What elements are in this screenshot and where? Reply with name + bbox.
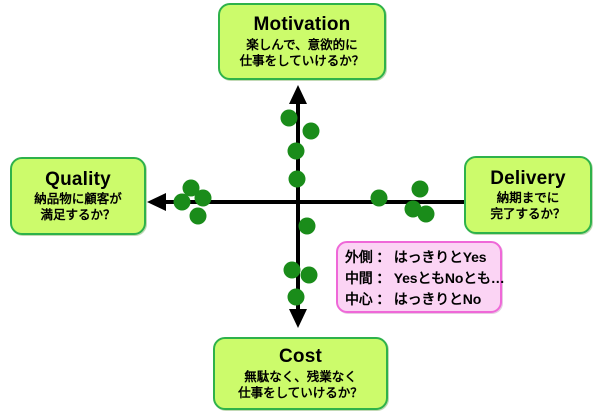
box-title-quality: Quality <box>45 169 111 190</box>
data-point <box>284 262 301 279</box>
box-title-cost: Cost <box>279 346 322 367</box>
box-subtitle-quality-line2: 満足するか？ <box>40 207 115 223</box>
box-subtitle-delivery-line1: 納期までに <box>497 190 560 206</box>
data-point <box>371 190 388 207</box>
box-subtitle-delivery-line2: 完了するか？ <box>490 206 565 222</box>
legend-box: 外側 ： はっきりとYes 中間 ： YesともNoとも… 中心 ： はっきりと… <box>336 241 502 313</box>
data-point <box>288 289 305 306</box>
legend-row-outer: 外側 ： はっきりとYes <box>345 247 498 268</box>
data-point <box>412 181 429 198</box>
box-subtitle-cost-line1: 無駄なく、残業なく <box>244 369 357 385</box>
axis-label-box-delivery: Delivery 納期までに 完了するか？ <box>464 156 592 234</box>
data-point <box>289 171 306 188</box>
box-subtitle-motivation-line1: 楽しんで、意欲的に <box>246 37 357 53</box>
legend-row-center: 中心 ： はっきりとNo <box>345 289 498 310</box>
data-point <box>299 218 316 235</box>
data-point <box>174 194 191 211</box>
legend-row-middle: 中間 ： YesともNoとも… <box>345 268 498 289</box>
data-point <box>303 123 320 140</box>
data-point <box>281 110 298 127</box>
axis-label-box-motivation: Motivation 楽しんで、意欲的に 仕事をしていけるか？ <box>218 3 386 80</box>
x-axis-left-arrow <box>147 193 166 211</box>
box-subtitle-quality-line1: 納品物に顧客が <box>34 191 122 207</box>
y-axis-up-arrow <box>289 85 307 104</box>
data-point <box>288 143 305 160</box>
axis-label-box-quality: Quality 納品物に顧客が 満足するか？ <box>10 157 146 235</box>
box-title-delivery: Delivery <box>490 168 566 189</box>
y-axis-down-arrow <box>289 309 307 328</box>
axis-label-box-cost: Cost 無駄なく、残業なく 仕事をしていけるか？ <box>213 337 388 410</box>
data-point <box>195 190 212 207</box>
data-point <box>418 206 435 223</box>
data-point <box>301 267 318 284</box>
box-subtitle-cost-line2: 仕事をしていけるか？ <box>238 385 363 401</box>
data-point <box>190 208 207 225</box>
box-subtitle-motivation-line2: 仕事をしていけるか？ <box>240 53 365 69</box>
box-title-motivation: Motivation <box>254 14 351 35</box>
diagram-canvas: Motivation 楽しんで、意欲的に 仕事をしていけるか？ Quality … <box>0 0 600 412</box>
